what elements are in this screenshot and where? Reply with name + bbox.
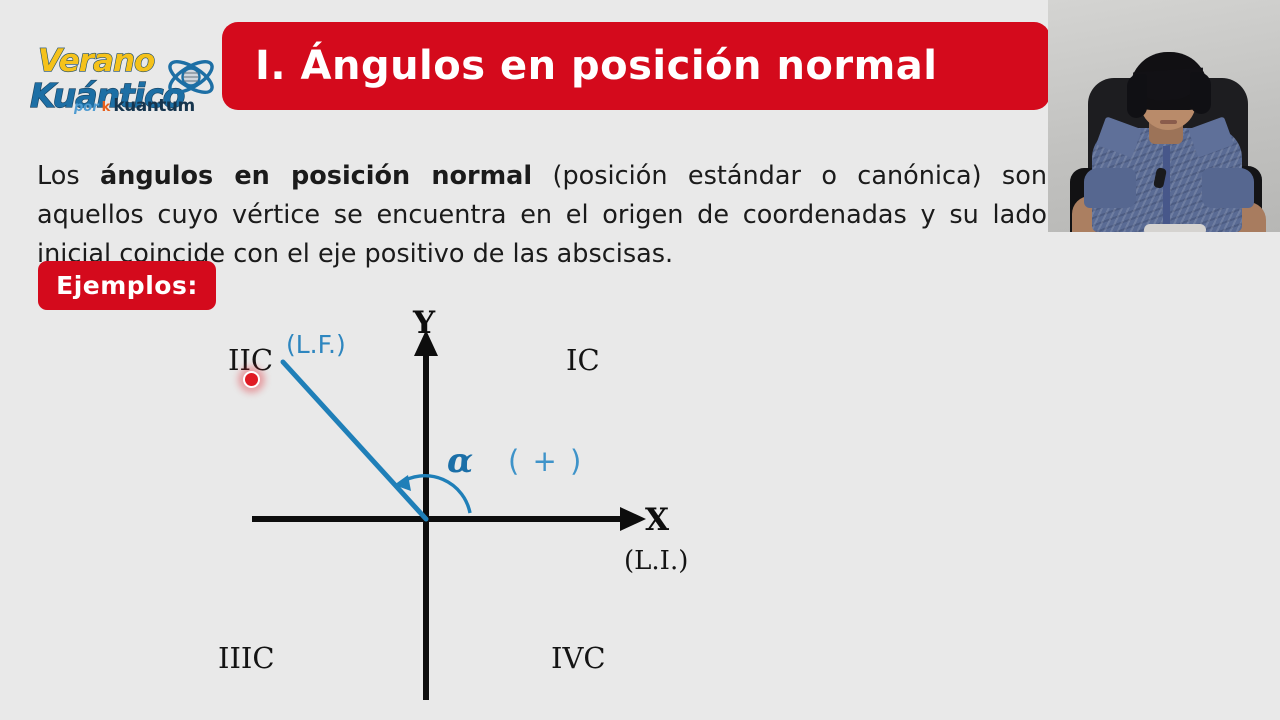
logo-wordmark: Verano Kuántico <box>30 45 225 85</box>
initial-side-label: (L.I.) <box>624 546 688 576</box>
presenter-mouth <box>1160 120 1177 124</box>
brand-logo: Verano Kuántico por k kuantum <box>30 12 225 117</box>
x-axis-label: X <box>645 502 669 538</box>
page-title: I. Ángulos en posición normal <box>222 43 938 89</box>
presenter-webcam-feed[interactable] <box>1048 0 1280 232</box>
quadrant-label-1: IC <box>566 343 600 377</box>
definition-paragraph: Los ángulos en posición normal (posición… <box>37 157 1047 274</box>
terminal-side-label: (L.F.) <box>286 330 346 359</box>
slide-title-banner: I. Ángulos en posición normal <box>222 22 1050 110</box>
shirt-sleeve-right <box>1202 168 1254 208</box>
shirt-sleeve-left <box>1084 168 1136 208</box>
logo-por-text: por <box>74 100 99 115</box>
logo-byline: por k kuantum <box>74 96 195 116</box>
angle-sign-label: ( + ) <box>508 444 583 478</box>
desk-edge <box>1144 224 1206 232</box>
paragraph-part-1: Los <box>37 161 100 191</box>
examples-badge-label: Ejemplos: <box>56 271 198 300</box>
angle-arc <box>400 476 470 513</box>
atom-icon <box>163 53 219 101</box>
quadrant-label-4: IVC <box>551 641 606 675</box>
presenter-hair-side-left <box>1127 74 1147 118</box>
angle-symbol-label: α <box>447 441 473 481</box>
terminal-side-line <box>283 362 426 519</box>
logo-verano-text: Verano <box>38 43 154 79</box>
mouse-cursor-highlight <box>243 371 260 388</box>
examples-badge: Ejemplos: <box>38 261 216 310</box>
paragraph-bold-term: ángulos en posición normal <box>100 161 532 191</box>
logo-kuantum-text: kuantum <box>113 96 194 116</box>
quadrant-label-3: IIIC <box>218 641 275 675</box>
presenter-hair-side-right <box>1190 72 1211 114</box>
x-axis-arrowhead <box>620 507 646 531</box>
kuantum-mark-icon: k <box>102 100 111 115</box>
shirt-placket <box>1163 146 1170 232</box>
angle-arc-arrowhead <box>394 475 411 491</box>
y-axis-label: Y <box>413 305 435 341</box>
